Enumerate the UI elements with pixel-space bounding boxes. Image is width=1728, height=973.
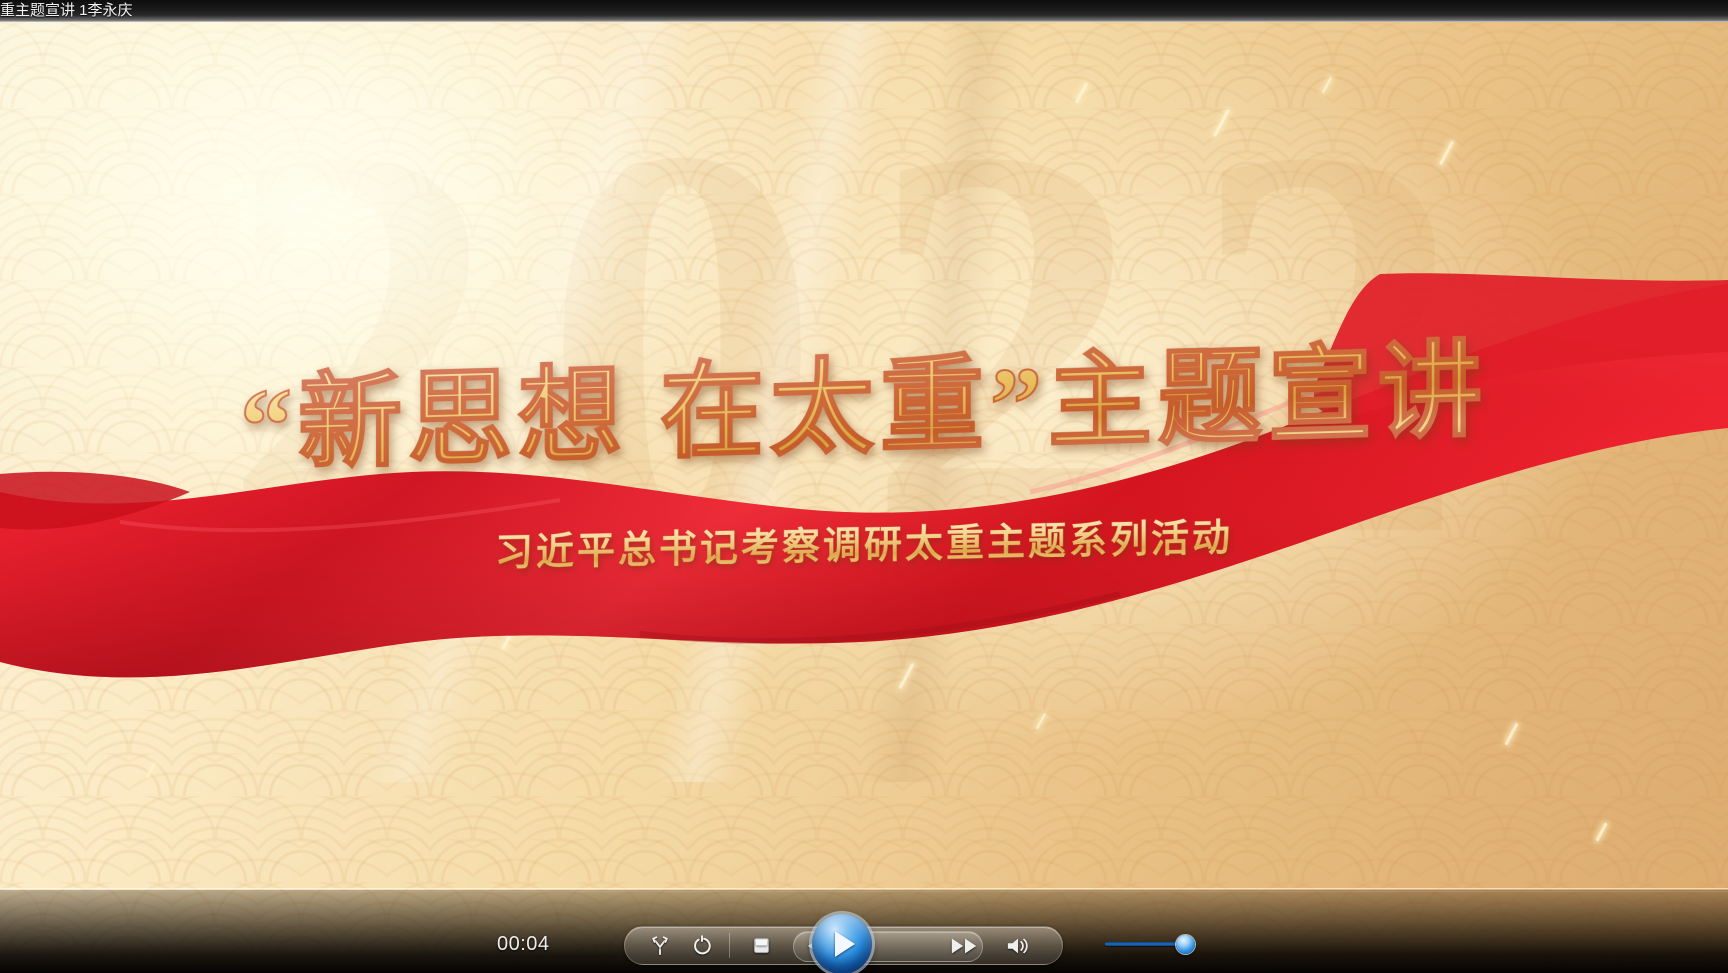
control-area-divider	[0, 888, 1728, 889]
window-title-bar[interactable]: 重主题宣讲 1李永庆	[0, 0, 1728, 22]
volume-speaker-icon[interactable]	[999, 927, 1037, 964]
volume-slider-handle[interactable]	[1176, 935, 1195, 954]
current-time-label: 00:04	[497, 915, 550, 973]
play-button[interactable]	[812, 914, 872, 973]
stop-icon[interactable]	[742, 927, 780, 964]
fast-forward-icon[interactable]	[945, 927, 983, 964]
repeat-icon[interactable]	[683, 927, 721, 964]
video-surface[interactable]: 2022	[0, 22, 1728, 973]
player-control-bar[interactable]: 00:04	[0, 915, 1728, 973]
window-title-text: 重主题宣讲 1李永庆	[0, 0, 133, 22]
shuffle-icon[interactable]	[641, 927, 679, 964]
control-divider	[729, 933, 730, 958]
